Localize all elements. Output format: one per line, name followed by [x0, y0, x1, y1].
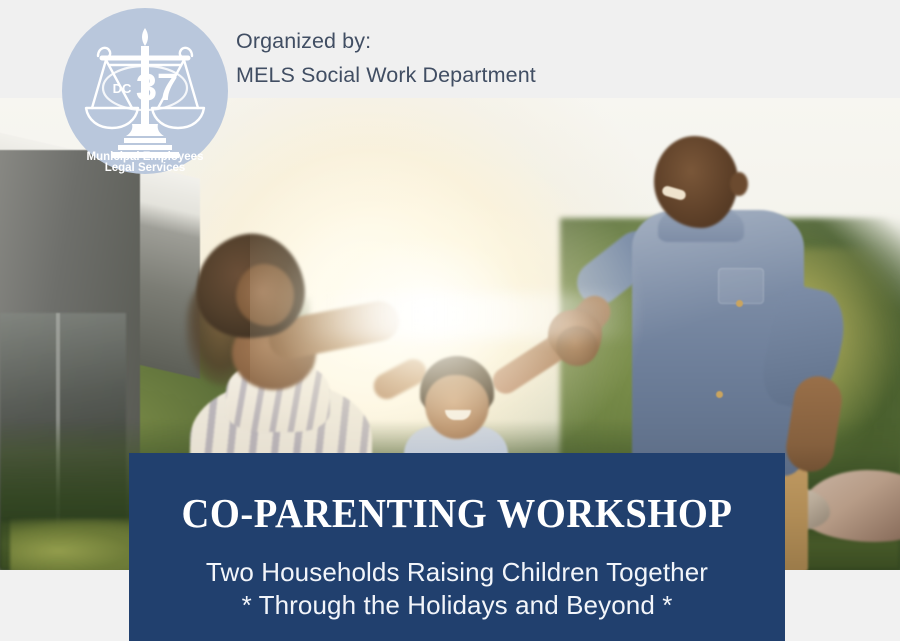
workshop-subtitle: Two Households Raising Children Together… [129, 534, 785, 622]
subtitle-line-1: Two Households Raising Children Together [129, 556, 785, 589]
workshop-title: CO-PARENTING WORKSHOP [149, 453, 766, 534]
subtitle-line-2: * Through the Holidays and Beyond * [129, 589, 785, 622]
logo-line-2: Legal Services [105, 162, 186, 174]
father-pocket-button-lower [716, 391, 723, 398]
father-pocket-button [736, 300, 743, 307]
flyer-canvas: Organized by: MELS Social Work Departmen… [0, 0, 900, 641]
organizer-name: MELS Social Work Department [236, 58, 536, 92]
father-shirt-pocket [718, 268, 764, 304]
organizer-block: Organized by: MELS Social Work Departmen… [236, 24, 536, 92]
joined-hands-lower [556, 326, 598, 366]
title-banner: CO-PARENTING WORKSHOP Two Households Rai… [129, 453, 785, 641]
father-ear [730, 172, 748, 196]
dc37-mels-logo: DC 37 Municipal Employees Legal Services [62, 8, 228, 174]
organized-by-label: Organized by: [236, 24, 536, 58]
logo-local-number: 37 [136, 67, 178, 109]
mother-face [236, 264, 294, 326]
logo-union-initials: DC [113, 81, 132, 96]
father-head [654, 136, 738, 228]
